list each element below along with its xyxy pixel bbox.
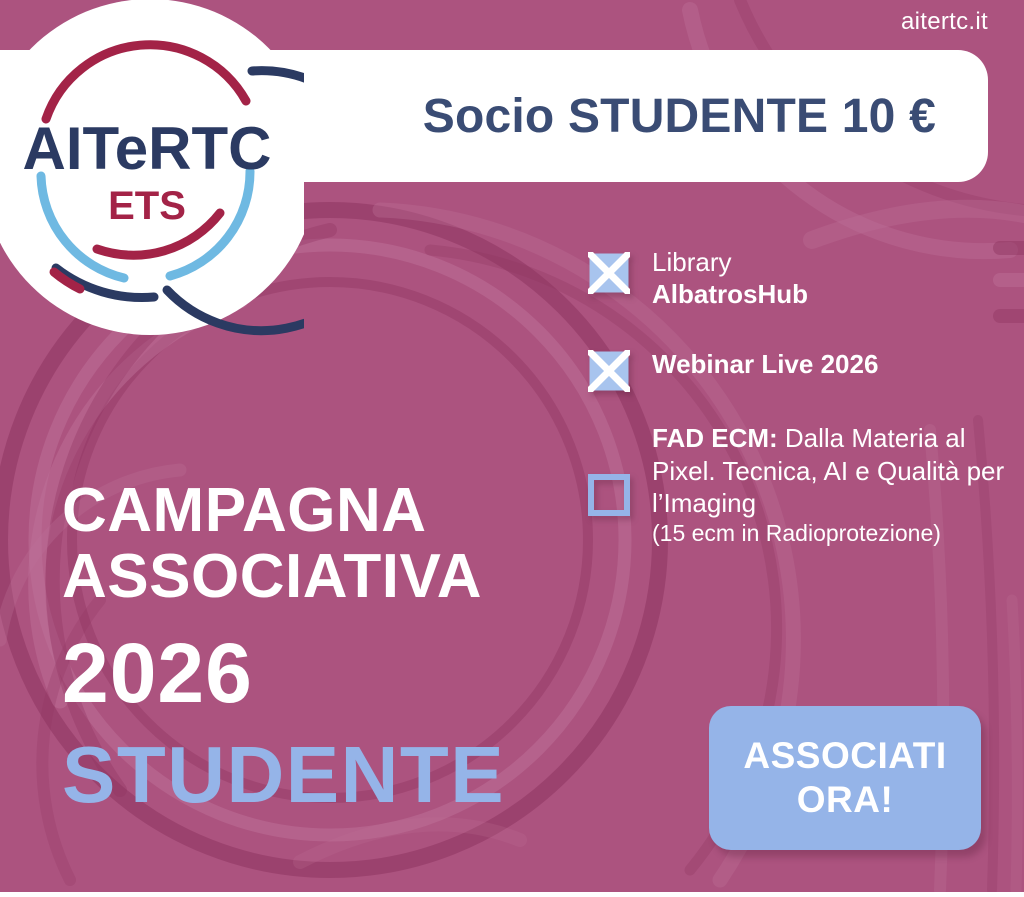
banner-title: Socio STUDENTE 10 € bbox=[423, 89, 936, 144]
list-item-text: Webinar Live 2026 bbox=[652, 344, 878, 380]
aitertc-logo: AITeRTC ETS bbox=[0, 0, 304, 337]
list-item[interactable]: Library AlbatrosHub bbox=[588, 246, 1008, 310]
logo-wordmark: AITeRTC bbox=[23, 115, 272, 182]
headline-year: 2026 bbox=[62, 621, 505, 726]
associati-ora-button[interactable]: ASSOCIATI ORA! bbox=[709, 706, 981, 850]
cta-line-1: ASSOCIATI bbox=[743, 735, 946, 776]
list-item-text: FAD ECM: Dalla Materia al Pixel. Tecnica… bbox=[652, 422, 1008, 547]
page-title: CAMPAGNA ASSOCIATIVA 2026 STUDENTE bbox=[62, 478, 505, 819]
headline-tier: STUDENTE bbox=[62, 730, 505, 820]
list-item-line1: Webinar Live 2026 bbox=[652, 348, 878, 380]
list-item[interactable]: FAD ECM: Dalla Materia al Pixel. Tecnica… bbox=[588, 422, 1008, 547]
list-item-line2: AlbatrosHub bbox=[652, 278, 808, 310]
fad-ecm-note: (15 ecm in Radioprotezione) bbox=[652, 519, 1008, 548]
benefits-checklist: Library AlbatrosHub Webinar Live 2026 FA… bbox=[588, 246, 1008, 548]
cta-text: ASSOCIATI ORA! bbox=[743, 734, 946, 821]
headline-line-1: CAMPAGNA bbox=[62, 478, 505, 544]
list-item-text: Library AlbatrosHub bbox=[652, 246, 808, 310]
checkbox-empty-icon[interactable] bbox=[588, 474, 630, 516]
site-url: aitertc.it bbox=[901, 8, 988, 36]
fad-ecm-label: FAD ECM: bbox=[652, 423, 778, 453]
bottom-divider bbox=[0, 892, 1024, 897]
list-item[interactable]: Webinar Live 2026 bbox=[588, 344, 1008, 392]
cta-line-2: ORA! bbox=[797, 779, 894, 820]
list-item-line1: Library bbox=[652, 246, 808, 278]
logo-subtitle: ETS bbox=[108, 184, 186, 228]
headline-line-2: ASSOCIATIVA bbox=[62, 544, 505, 610]
promotional-poster: aitertc.it Socio STUDENTE 10 € AITeRTC E… bbox=[0, 0, 1024, 897]
checkbox-checked-x-icon[interactable] bbox=[588, 350, 630, 392]
fad-ecm-description: FAD ECM: Dalla Materia al Pixel. Tecnica… bbox=[652, 422, 1008, 519]
checkbox-checked-x-icon[interactable] bbox=[588, 252, 630, 294]
